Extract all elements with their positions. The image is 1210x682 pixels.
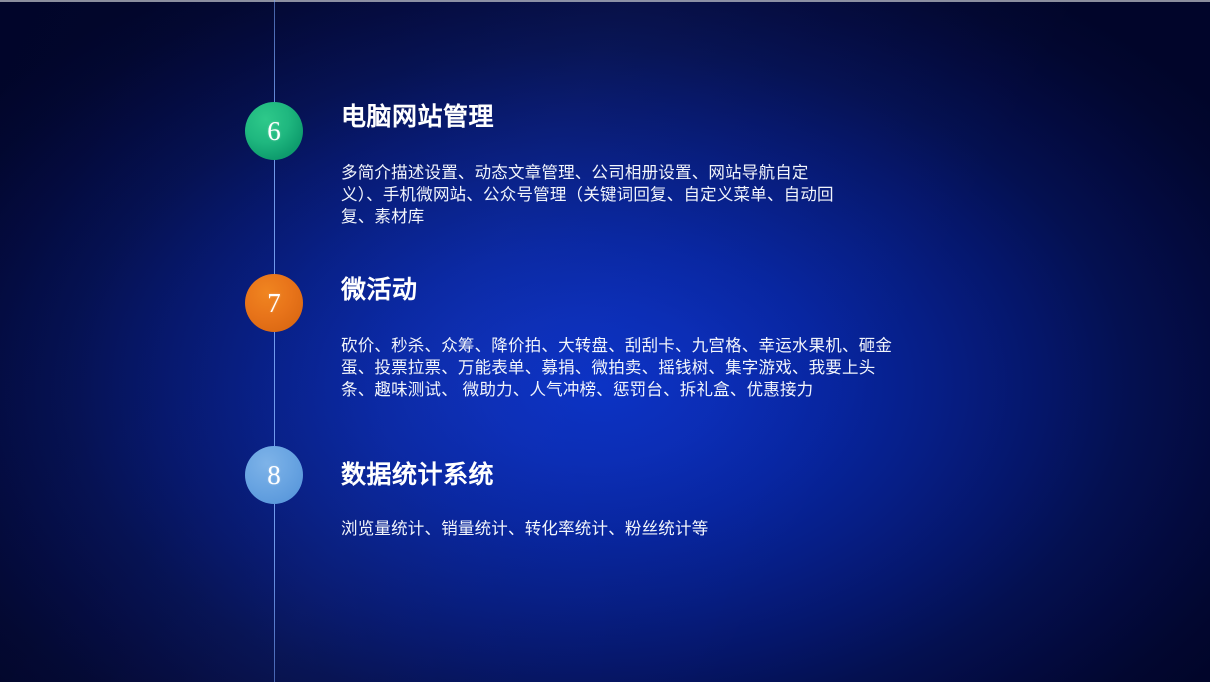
section-description-7: 砍价、秒杀、众筹、降价拍、大转盘、刮刮卡、九宫格、幸运水果机、砸金蛋、投票拉票、… xyxy=(341,335,897,401)
slide-canvas: 6 电脑网站管理 多简介描述设置、动态文章管理、公司相册设置、网站导航自定义）、… xyxy=(0,0,1210,682)
step-number-label: 6 xyxy=(267,118,281,145)
step-number-label: 7 xyxy=(267,290,281,317)
step-number-badge-6: 6 xyxy=(245,102,303,160)
section-title-6: 电脑网站管理 xyxy=(341,103,921,132)
timeline-item-content-8: 数据统计系统 浏览量统计、销量统计、转化率统计、粉丝统计等 xyxy=(341,461,921,540)
step-number-badge-8: 8 xyxy=(245,446,303,504)
timeline-item-content-7: 微活动 砍价、秒杀、众筹、降价拍、大转盘、刮刮卡、九宫格、幸运水果机、砸金蛋、投… xyxy=(341,276,921,401)
section-description-8: 浏览量统计、销量统计、转化率统计、粉丝统计等 xyxy=(341,518,897,540)
step-number-badge-7: 7 xyxy=(245,274,303,332)
section-description-6: 多简介描述设置、动态文章管理、公司相册设置、网站导航自定义）、手机微网站、公众号… xyxy=(341,162,837,228)
section-title-7: 微活动 xyxy=(341,276,921,305)
timeline-items: 6 电脑网站管理 多简介描述设置、动态文章管理、公司相册设置、网站导航自定义）、… xyxy=(0,0,1210,682)
timeline-item-content-6: 电脑网站管理 多简介描述设置、动态文章管理、公司相册设置、网站导航自定义）、手机… xyxy=(341,103,921,228)
section-title-8: 数据统计系统 xyxy=(341,461,921,490)
step-number-label: 8 xyxy=(267,462,281,489)
